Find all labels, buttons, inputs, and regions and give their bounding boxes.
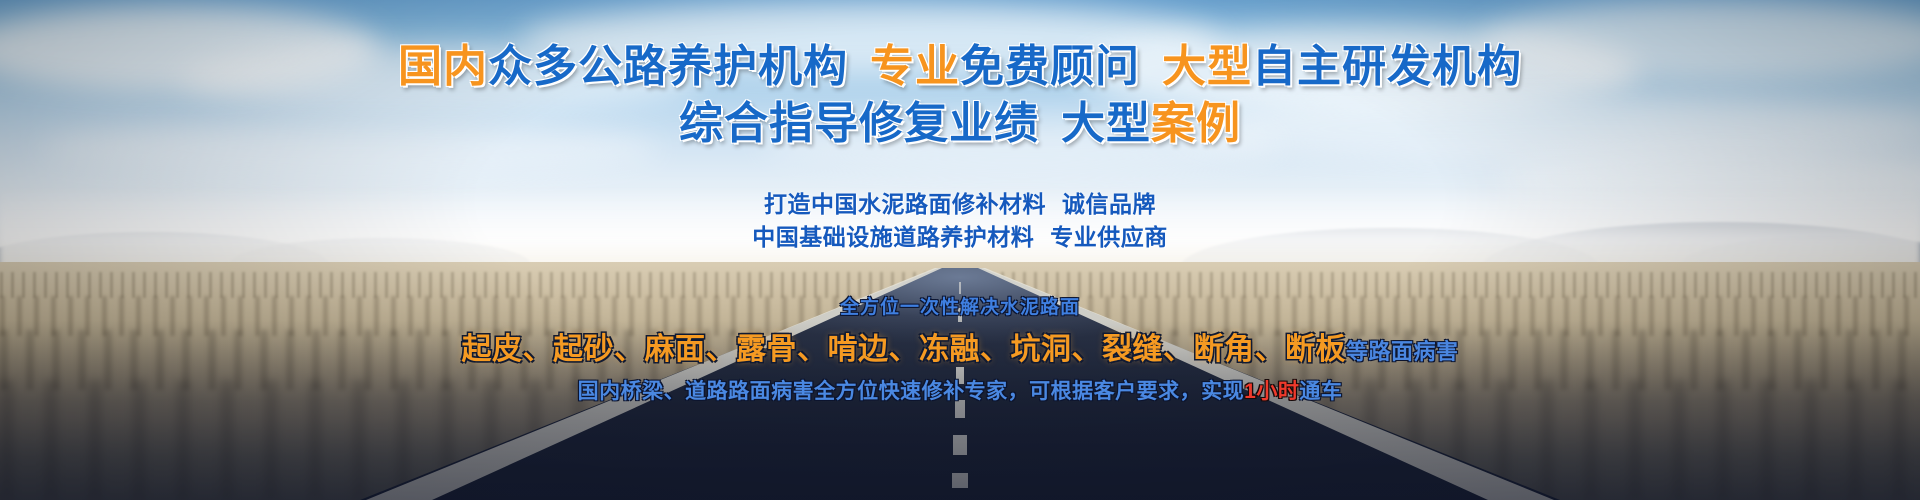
headline-seg-agencies: 众多公路养护机构 xyxy=(488,42,848,91)
headline-seg-case-study: 案例 xyxy=(1151,99,1241,148)
lower-text-block: 全方位一次性解决水泥路面 起皮、起砂、麻面、露骨、啃边、冻融、坑洞、裂缝、断角、… xyxy=(0,292,1920,405)
subtitle-line-1-main: 打造中国水泥路面修补材料 xyxy=(764,191,1046,217)
lower-line-2: 起皮、起砂、麻面、露骨、啃边、冻融、坑洞、裂缝、断角、断板等路面病害 xyxy=(0,324,1920,368)
banner-content: 国内众多公路养护机构专业免费顾问大型自主研发机构 综合指导修复业绩大型案例 打造… xyxy=(0,0,1920,500)
subtitle-line-2-main: 中国基础设施道路养护材料 xyxy=(752,224,1034,250)
defect-list-suffix: 等路面病害 xyxy=(1346,339,1459,364)
promo-banner: 国内众多公路养护机构专业免费顾问大型自主研发机构 综合指导修复业绩大型案例 打造… xyxy=(0,0,1920,500)
headline-seg-large-scale-2: 大型 xyxy=(1061,99,1151,148)
headline-line-2: 综合指导修复业绩大型案例 xyxy=(0,99,1920,148)
one-hour-highlight: 1小时 xyxy=(1244,380,1299,403)
headline-seg-large-scale: 大型 xyxy=(1162,42,1252,91)
headline: 国内众多公路养护机构专业免费顾问大型自主研发机构 综合指导修复业绩大型案例 xyxy=(0,42,1920,149)
headline-seg-professional: 专业 xyxy=(870,42,960,91)
lower-line-3-suffix: 通车 xyxy=(1299,380,1342,403)
lower-line-3: 国内桥梁、道路路面病害全方位快速修补专家，可根据客户要求，实现1小时通车 xyxy=(0,375,1920,405)
headline-seg-free-consult: 免费顾问 xyxy=(960,42,1140,91)
headline-seg-domestic: 国内 xyxy=(398,42,488,91)
headline-seg-guidance-results: 综合指导修复业绩 xyxy=(679,99,1039,148)
lower-line-3-prefix: 国内桥梁、道路路面病害全方位快速修补专家，可根据客户要求，实现 xyxy=(578,380,1245,403)
lower-line-1: 全方位一次性解决水泥路面 xyxy=(0,292,1920,319)
headline-seg-rnd-institute: 自主研发机构 xyxy=(1252,42,1522,91)
defect-list: 起皮、起砂、麻面、露骨、啃边、冻融、坑洞、裂缝、断角、断板 xyxy=(461,333,1346,366)
headline-line-1: 国内众多公路养护机构专业免费顾问大型自主研发机构 xyxy=(0,42,1920,91)
subtitle-line-2: 中国基础设施道路养护材料专业供应商 xyxy=(0,221,1920,254)
subtitle: 打造中国水泥路面修补材料诚信品牌 中国基础设施道路养护材料专业供应商 xyxy=(0,188,1920,255)
subtitle-line-2-supplier: 专业供应商 xyxy=(1050,224,1168,250)
subtitle-line-1: 打造中国水泥路面修补材料诚信品牌 xyxy=(0,188,1920,221)
subtitle-line-1-brand: 诚信品牌 xyxy=(1062,191,1156,217)
